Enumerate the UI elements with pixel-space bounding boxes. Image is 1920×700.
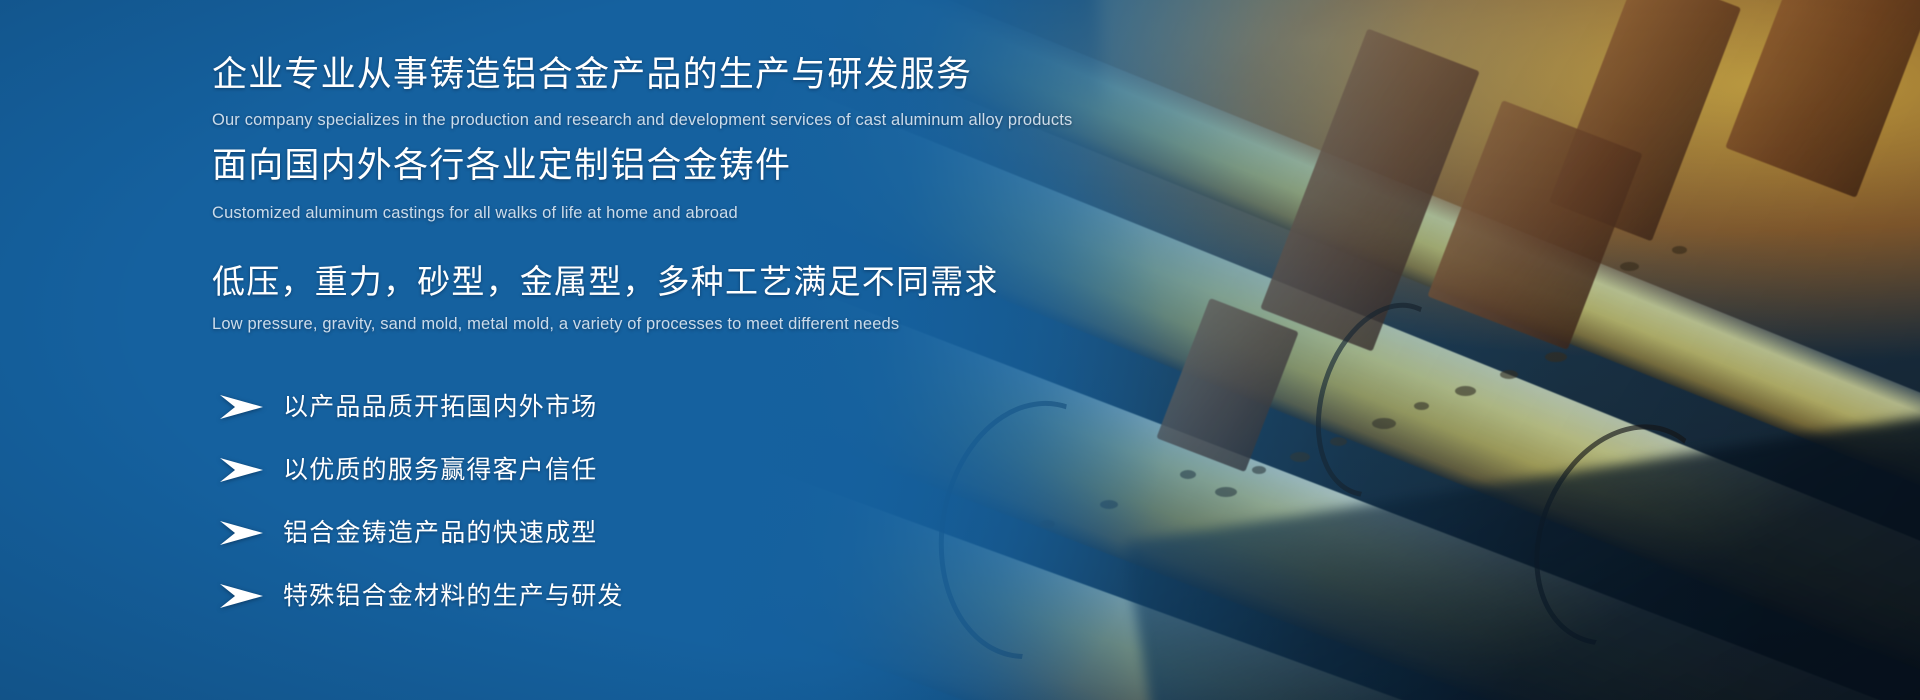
list-item-label: 以产品品质开拓国内外市场 (283, 395, 597, 420)
arrow-right-icon (218, 583, 265, 609)
headline-block-1: 企业专业从事铸造铝合金产品的生产与研发服务 Our company specia… (212, 53, 1072, 132)
promo-banner: 企业专业从事铸造铝合金产品的生产与研发服务 Our company specia… (0, 0, 1920, 700)
list-item-label: 特殊铝合金材料的生产与研发 (283, 584, 624, 609)
headline-en-1: Our company specializes in the productio… (212, 109, 1072, 132)
headline-block-2: 面向国内外各行各业定制铝合金铸件 Customized aluminum cas… (212, 144, 791, 225)
headline-block-3: 低压，重力，砂型，金属型，多种工艺满足不同需求 Low pressure, gr… (212, 261, 999, 336)
list-item-label: 以优质的服务赢得客户信任 (283, 458, 597, 483)
headline-en-3: Low pressure, gravity, sand mold, metal … (212, 313, 999, 336)
arrow-right-icon (218, 394, 265, 420)
feature-bullet-list: 以产品品质开拓国内外市场 以优质的服务赢得客户信任 铝合金铸造产品的快速成型 特… (218, 394, 624, 609)
headline-cn-1: 企业专业从事铸造铝合金产品的生产与研发服务 (212, 53, 1072, 97)
headline-en-2: Customized aluminum castings for all wal… (212, 202, 791, 225)
headline-cn-3: 低压，重力，砂型，金属型，多种工艺满足不同需求 (212, 261, 999, 302)
headline-cn-2: 面向国内外各行各业定制铝合金铸件 (212, 144, 791, 188)
list-item: 以优质的服务赢得客户信任 (218, 457, 624, 483)
list-item: 特殊铝合金材料的生产与研发 (218, 583, 624, 609)
arrow-right-icon (218, 457, 265, 483)
list-item: 铝合金铸造产品的快速成型 (218, 520, 624, 546)
list-item: 以产品品质开拓国内外市场 (218, 394, 624, 420)
arrow-right-icon (218, 520, 265, 546)
banner-content: 企业专业从事铸造铝合金产品的生产与研发服务 Our company specia… (212, 0, 1512, 700)
list-item-label: 铝合金铸造产品的快速成型 (283, 521, 597, 546)
